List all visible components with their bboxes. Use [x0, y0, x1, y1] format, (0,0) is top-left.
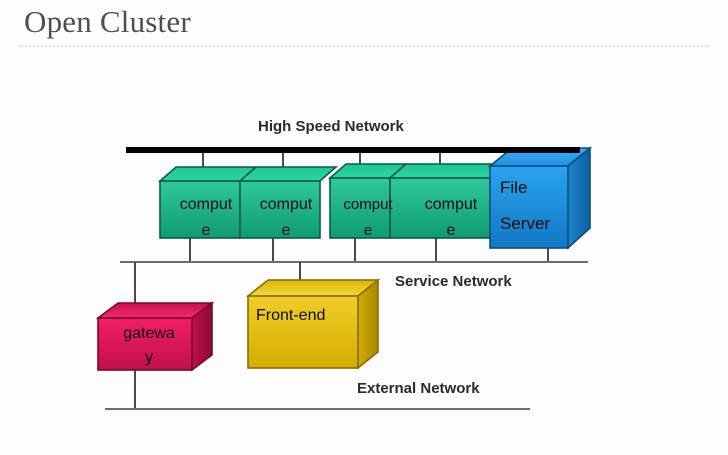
high-speed-network-label: High Speed Network	[258, 118, 404, 135]
compute-node-2-shape	[240, 167, 336, 238]
gateway-shape	[98, 303, 212, 370]
service-network-label: Service Network	[395, 273, 512, 290]
file-server-shape	[490, 148, 590, 248]
compute-node-4-shape	[390, 164, 506, 238]
slide-canvas: Open Cluster	[0, 0, 728, 455]
external-network-label: External Network	[357, 380, 480, 397]
front-end-shape	[248, 280, 378, 368]
high-speed-network-bar	[126, 147, 580, 153]
